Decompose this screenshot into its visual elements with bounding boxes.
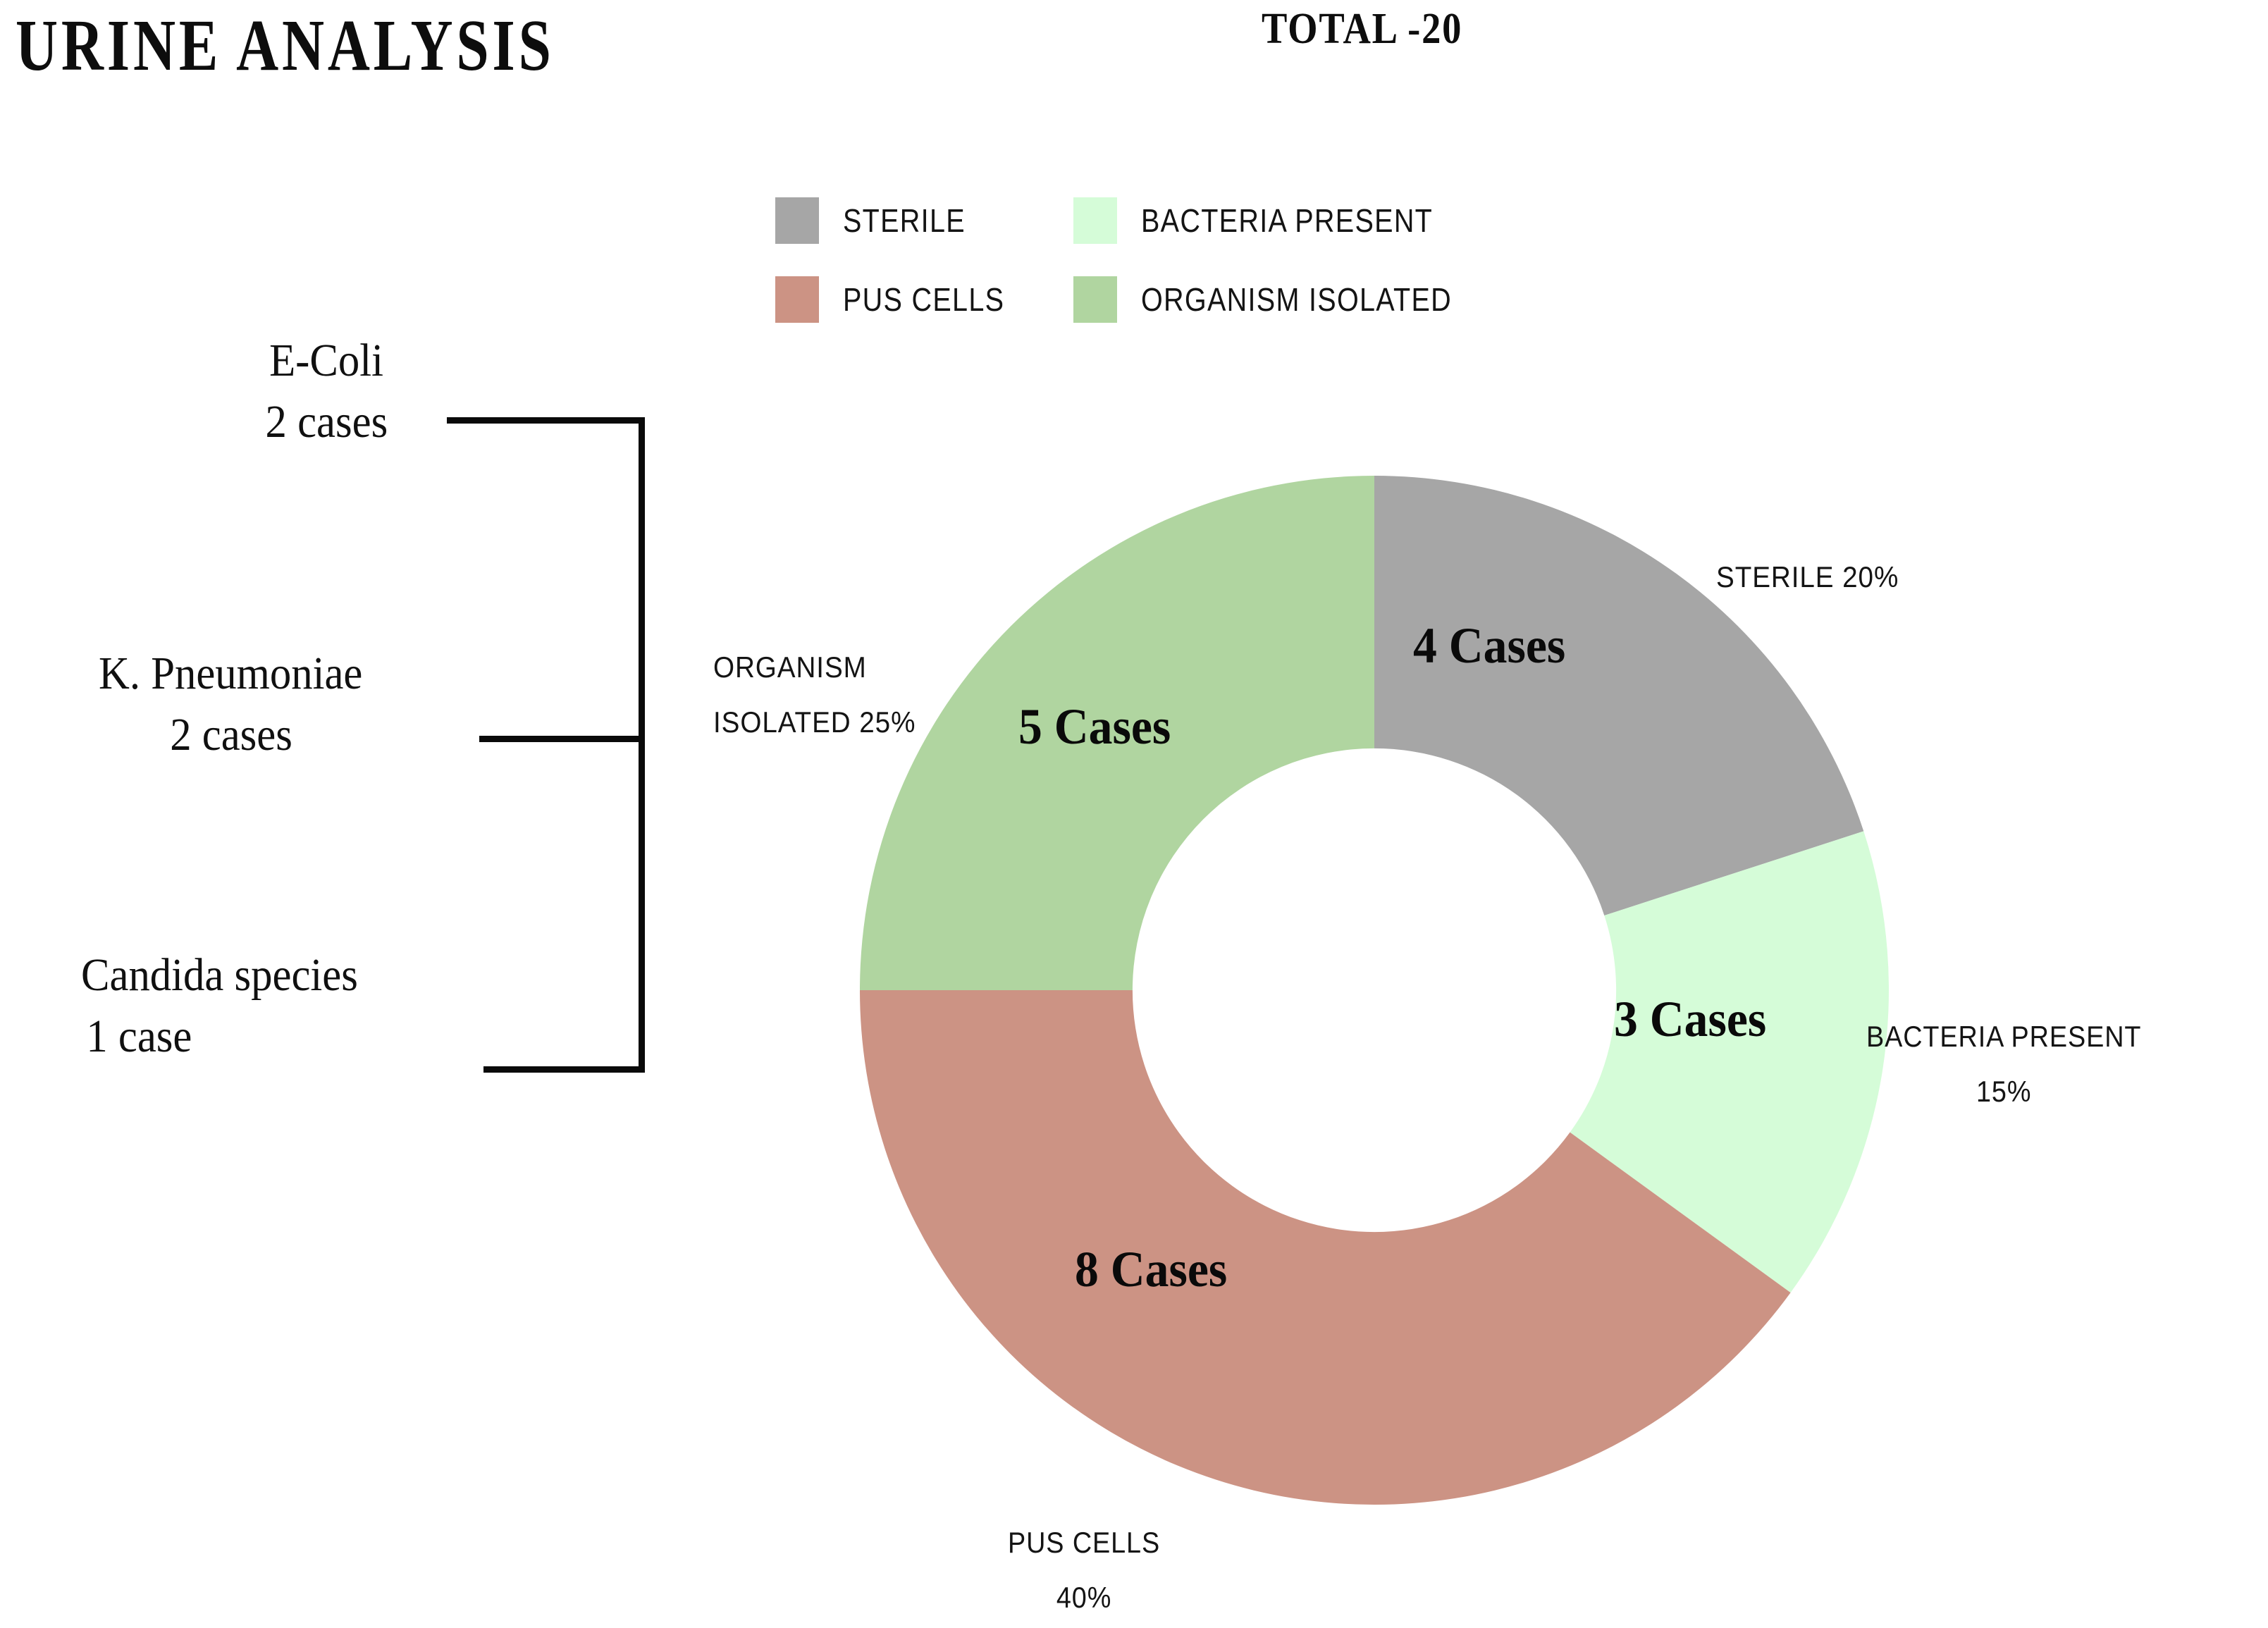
bracket-vertical-line — [639, 417, 645, 1073]
legend-item-label: PUS CELLS — [843, 280, 1004, 319]
legend-swatch-icon — [1073, 276, 1117, 323]
legend-swatch-icon — [1073, 197, 1117, 244]
callout-line: 15% — [1866, 1064, 2141, 1119]
slice-value-sterile: 4 Cases — [1413, 617, 1565, 675]
donut-slice-sterile[interactable] — [1374, 476, 1863, 915]
bracket-branch-candida — [483, 1066, 644, 1073]
legend-item-organism-isolated[interactable]: ORGANISM ISOLATED — [1073, 276, 1503, 323]
annotation-k-pneumoniae: K. Pneumoniae 2 cases — [99, 643, 362, 765]
annotation-name: Candida species — [81, 949, 358, 1001]
callout-line: PUS CELLS — [1008, 1515, 1160, 1570]
legend-item-bacteria-present[interactable]: BACTERIA PRESENT — [1073, 197, 1503, 244]
slice-value-organism: 5 Cases — [1018, 698, 1171, 756]
bracket-branch-e-coli — [447, 417, 643, 424]
callout-line: BACTERIA PRESENT — [1866, 1009, 2141, 1064]
callout-line: 40% — [1008, 1570, 1160, 1625]
chart-legend: STERILE BACTERIA PRESENT PUS CELLS ORGAN… — [775, 197, 1502, 323]
page-title: URINE ANALYSIS — [16, 6, 555, 86]
annotation-cases: 2 cases — [99, 704, 362, 765]
annotation-cases: 1 case — [81, 1006, 358, 1067]
slice-value-bacteria: 3 Cases — [1614, 990, 1766, 1049]
slice-value-pus-cells: 8 Cases — [1075, 1240, 1227, 1299]
annotation-e-coli: E-Coli 2 cases — [254, 330, 388, 452]
annotation-name: E-Coli — [254, 330, 388, 391]
legend-swatch-icon — [775, 276, 819, 323]
callout-bacteria-present: BACTERIA PRESENT 15% — [1866, 1009, 2141, 1118]
callout-pus-cells: PUS CELLS 40% — [1008, 1515, 1160, 1624]
callout-sterile: STERILE 20% — [1716, 550, 1899, 605]
callout-line: ORGANISM — [713, 640, 916, 695]
annotation-name: K. Pneumoniae — [99, 648, 362, 699]
legend-item-label: ORGANISM ISOLATED — [1141, 280, 1452, 319]
legend-swatch-icon — [775, 197, 819, 244]
legend-item-pus-cells[interactable]: PUS CELLS — [775, 276, 1031, 323]
total-count-label: TOTAL -20 — [1262, 4, 1462, 54]
annotation-cases: 2 cases — [254, 391, 388, 452]
callout-line: ISOLATED 25% — [713, 695, 916, 750]
bracket-branch-k-pneumoniae — [479, 736, 643, 742]
legend-item-label: BACTERIA PRESENT — [1141, 202, 1433, 240]
callout-organism-isolated: ORGANISM ISOLATED 25% — [713, 640, 916, 749]
legend-item-sterile[interactable]: STERILE — [775, 197, 1031, 244]
annotation-candida-species: Candida species 1 case — [81, 944, 358, 1067]
legend-item-label: STERILE — [843, 202, 966, 240]
callout-line: STERILE 20% — [1716, 550, 1899, 605]
